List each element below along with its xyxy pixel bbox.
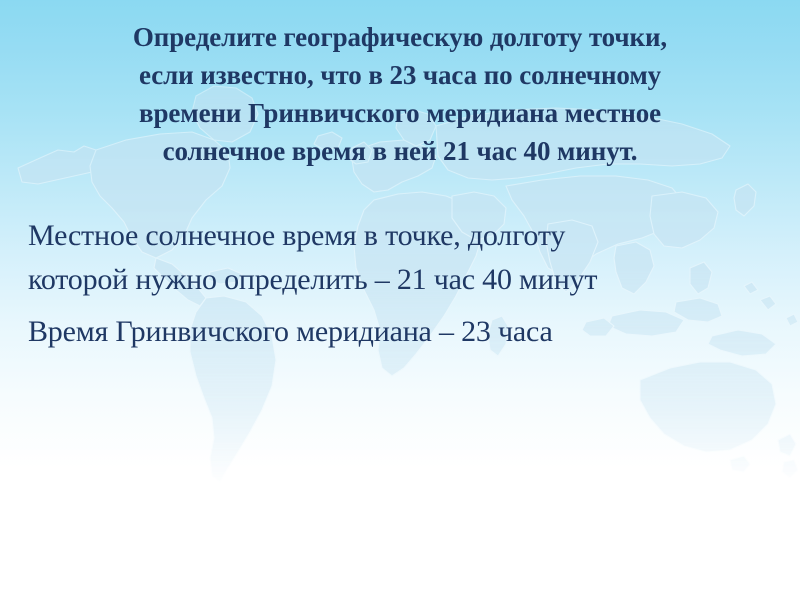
body-line-1: Местное солнечное время в точке, долготу: [28, 214, 772, 258]
title-line-1: Определите географическую долготу точки,: [34, 18, 766, 56]
title-line-4: солнечное время в ней 21 час 40 минут.: [34, 132, 766, 170]
title-line-2: если известно, что в 23 часа по солнечно…: [34, 56, 766, 94]
slide-body: Местное солнечное время в точке, долготу…: [28, 214, 772, 354]
body-line-3: Время Гринвичского меридиана – 23 часа: [28, 310, 772, 354]
body-line-2: которой нужно определить – 21 час 40 мин…: [28, 258, 772, 302]
title-line-3: времени Гринвичского меридиана местное: [34, 94, 766, 132]
slide-canvas: Определите географическую долготу точки,…: [0, 0, 800, 600]
slide-content: Определите географическую долготу точки,…: [0, 0, 800, 600]
slide-title: Определите географическую долготу точки,…: [34, 18, 766, 170]
